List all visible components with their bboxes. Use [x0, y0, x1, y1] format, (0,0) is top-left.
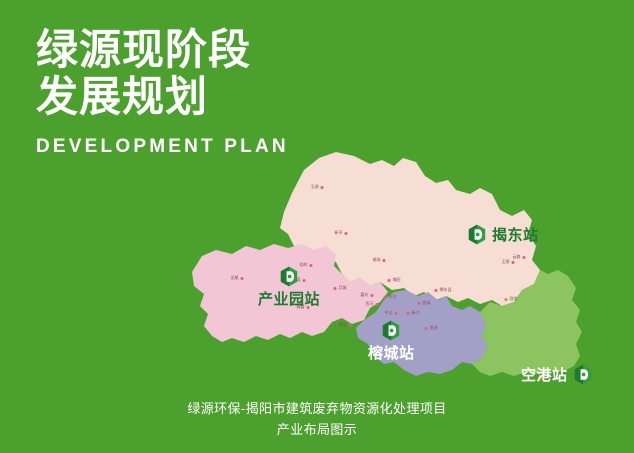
town-label: 梅东 [339, 323, 352, 327]
town-label: 中山 [385, 311, 398, 315]
page-title-line-2: 发展规划 [36, 73, 456, 120]
town-dot-icon [349, 324, 352, 327]
town-label: 渔湖 [425, 326, 438, 330]
station-label: 产业园站 [258, 288, 320, 309]
map-station-konggang[interactable]: 空港站 [521, 364, 592, 385]
town-label: 云路 [513, 255, 526, 259]
town-label: 曲溪 [418, 301, 431, 305]
town-dot-icon [371, 294, 374, 297]
town-dot-icon [384, 296, 387, 299]
town-dot-icon [388, 279, 391, 282]
town-label: 揭东县 [435, 288, 452, 292]
town-dot-icon [334, 287, 337, 290]
town-label: 东兴 [384, 295, 397, 299]
town-dot-icon [321, 186, 324, 189]
town-label: 龙尾 [231, 276, 244, 280]
caption-line-1: 绿源环保-揭阳市建筑废弃物资源化处理项目 [0, 398, 634, 419]
luyuan-logo-icon [382, 320, 400, 341]
town-dot-icon [407, 312, 410, 315]
town-dot-icon [241, 277, 244, 280]
station-label: 揭东站 [492, 224, 539, 245]
town-dot-icon [435, 289, 438, 292]
poster-caption: 绿源环保-揭阳市建筑废弃物资源化处理项目 产业布局图示 [0, 398, 634, 441]
town-dot-icon [505, 298, 508, 301]
town-label: 玉湖 [311, 185, 324, 189]
town-dot-icon [376, 303, 379, 306]
town-label: 西马 [366, 302, 379, 306]
map-station-chanyeyuan[interactable]: 产业园站 [258, 266, 320, 309]
caption-line-2: 产业布局图示 [0, 419, 634, 440]
town-dot-icon [345, 232, 348, 235]
page-title-line-1: 绿源现阶段 [36, 26, 456, 73]
town-dot-icon [395, 312, 398, 315]
town-label: 月城 [334, 286, 347, 290]
luyuan-logo-icon [468, 224, 486, 245]
town-label: 新亨 [335, 231, 348, 235]
town-label: 新兴 [407, 311, 420, 315]
town-label: 埔田 [388, 278, 401, 282]
station-label: 空港站 [521, 364, 568, 385]
town-label: 登岗 [505, 297, 518, 301]
luyuan-logo-icon [574, 364, 592, 385]
town-label: 磐东 [361, 293, 374, 297]
title-block: 绿源现阶段 发展规划 DEVELOPMENT PLAN [36, 26, 456, 158]
town-dot-icon [425, 327, 428, 330]
town-dot-icon [523, 256, 526, 259]
map-station-rongcheng[interactable]: 榕城站 [368, 320, 415, 363]
town-label: 锡场 [373, 258, 386, 262]
town-label: 玉窖 [502, 260, 515, 264]
station-label: 榕城站 [368, 342, 415, 363]
town-dot-icon [383, 259, 386, 262]
map-station-jiedong[interactable]: 揭东站 [468, 224, 539, 245]
development-plan-poster: 绿源现阶段 发展规划 DEVELOPMENT PLAN 玉湖 新亨 锡场 龙尾 … [0, 0, 634, 453]
town-dot-icon [418, 302, 421, 305]
luyuan-logo-icon [280, 266, 298, 287]
town-dot-icon [512, 261, 515, 264]
